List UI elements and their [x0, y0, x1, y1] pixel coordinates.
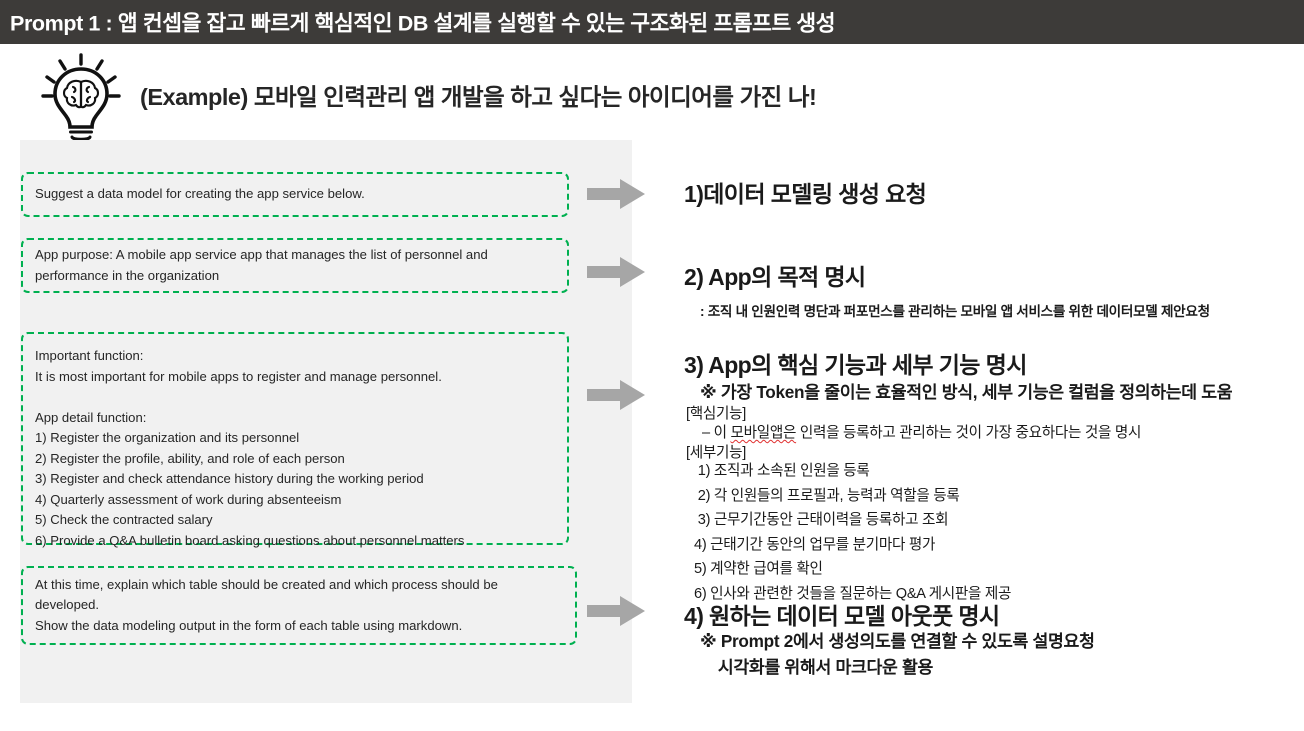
prompt-text: App purpose: A mobile app service app th…	[35, 245, 556, 286]
prompt-text: At this time, explain which table should…	[35, 575, 564, 637]
page-title: Prompt 1 : 앱 컨셉을 잡고 빠르게 핵심적인 DB 설계를 실행할 …	[10, 7, 835, 38]
annotation-detail-list: 1) 조직과 소속된 인원을 등록 2) 각 인원들의 프로필과, 능력과 역할…	[694, 459, 1011, 607]
annotation-note-3: ※ 가장 Token을 줄이는 효율적인 방식, 세부 기능은 컬럼을 정의하는…	[700, 378, 1232, 403]
arrow-right-icon-3	[587, 380, 645, 410]
core-item-suffix: 인력을 등록하고 관리하는 것이 가장 중요하다는 것을 명시	[796, 425, 1141, 441]
header-bar: Prompt 1 : 앱 컨셉을 잡고 빠르게 핵심적인 DB 설계를 실행할 …	[0, 0, 1304, 44]
prompt-box-output-format[interactable]: At this time, explain which table should…	[21, 566, 577, 645]
annotation-subtitle-2: : 조직 내 인원인력 명단과 퍼포먼스를 관리하는 모바일 앱 서비스를 위한…	[700, 300, 1210, 320]
annotation-heading-3: 3) App의 핵심 기능과 세부 기능 명시	[684, 346, 1027, 380]
core-item-highlight: 모바일앱은	[730, 425, 796, 441]
prompt-box-app-functions[interactable]: Important function: It is most important…	[21, 332, 569, 545]
prompt-text: Suggest a data model for creating the ap…	[35, 184, 556, 205]
core-item-prefix: – 이	[702, 425, 730, 441]
annotation-core-item: – 이 모바일앱은 인력을 등록하고 관리하는 것이 가장 중요하다는 것을 명…	[702, 421, 1141, 442]
annotation-heading-4: 4) 원하는 데이터 모델 아웃풋 명시	[684, 597, 999, 631]
annotation-core-label: [핵심기능]	[686, 402, 746, 423]
annotation-heading-2: 2) App의 목적 명시	[684, 258, 865, 292]
prompt-text: Important function: It is most important…	[35, 346, 556, 551]
arrow-right-icon-4	[587, 596, 645, 626]
prompt-box-suggest-model[interactable]: Suggest a data model for creating the ap…	[21, 172, 569, 217]
prompt-box-app-purpose[interactable]: App purpose: A mobile app service app th…	[21, 238, 569, 293]
arrow-right-icon-1	[587, 179, 645, 209]
annotation-note-4: ※ Prompt 2에서 생성의도를 연결할 수 있도록 설명요청 시각화를 위…	[700, 628, 1095, 680]
annotation-heading-1: 1)데이터 모델링 생성 요청	[684, 175, 926, 209]
example-title: (Example) 모바일 인력관리 앱 개발을 하고 싶다는 아이디어를 가진…	[140, 78, 816, 112]
lightbulb-brain-icon	[33, 53, 129, 141]
arrow-right-icon-2	[587, 257, 645, 287]
